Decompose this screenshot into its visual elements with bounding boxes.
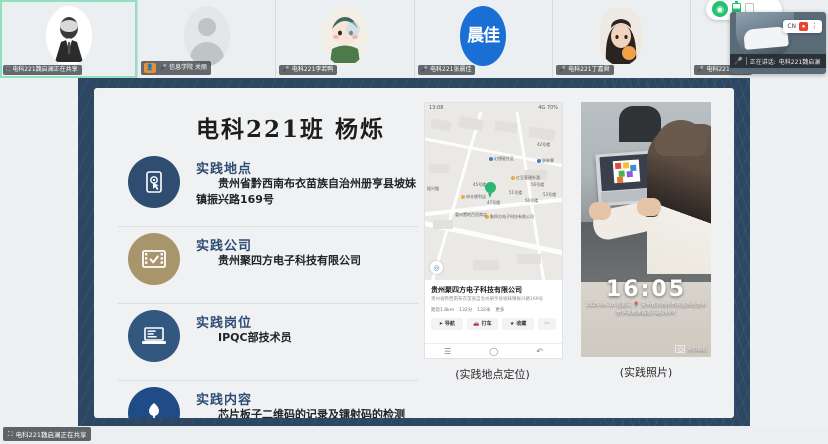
info-row-value: IPQC部技术员 — [196, 330, 421, 346]
poi-label: 申丰便利店 — [466, 194, 486, 200]
info-row-location: 实践地点 贵州省黔西南布衣苗族自治州册亨县坡妹镇振兴路169号 — [118, 150, 418, 227]
poi-label: 50号楼 — [525, 198, 538, 204]
home-circle-icon[interactable]: ◯ — [489, 347, 498, 356]
phone-status-bar: 13:08 4G 70% — [425, 103, 562, 112]
participant-tile-2[interactable]: 🎤 电科221李若鸭 — [275, 0, 413, 78]
map-action-bar: ➤导航 🚗打车 ★收藏 ··· — [425, 313, 562, 334]
map-pin-icon — [485, 182, 496, 196]
poi-label: 47号楼 — [487, 200, 500, 206]
avatar — [322, 6, 368, 66]
avatar — [184, 6, 230, 66]
participant-name-badge: ⛶ 电科221魏启澜正在共享 — [3, 65, 82, 75]
participant-name-badge: 🎤 电科221张晨佳 — [418, 65, 476, 75]
car-icon: 🚗 — [473, 321, 479, 327]
watermark-brand: 水印相机 — [675, 345, 707, 353]
poi-meta-item: 更多 — [495, 307, 504, 313]
more-vertical-icon[interactable]: ⋮ — [811, 23, 818, 30]
info-row-company: 实践公司 贵州聚四方电子科技有限公司 — [118, 227, 418, 304]
poi-address: 贵州省黔西南布衣苗族自治州册亨县坡妹镇振兴路169号 — [431, 297, 556, 304]
info-row-label: 实践岗位 — [196, 312, 252, 331]
map-building — [473, 260, 499, 270]
navigate-label: 导航 — [445, 320, 455, 327]
map-building — [494, 121, 517, 134]
map-caption: (实践地点定位) — [424, 366, 561, 382]
mic-muted-icon: 🎤 — [697, 67, 704, 73]
poi-label: 51号楼 — [509, 190, 522, 196]
participant-name: 电科221张晨佳 — [430, 67, 471, 73]
participant-name: 电科221魏启澜正在共享 — [12, 67, 77, 73]
poi-dot — [537, 159, 541, 163]
map-building — [430, 118, 451, 131]
taxi-button[interactable]: 🚗打车 — [467, 318, 499, 330]
avatar-initials: 晨佳 — [467, 28, 499, 45]
pip-speaking-name: 电科221魏启澜 — [779, 57, 820, 66]
map-poi-card: 贵州聚四方电子科技有限公司 贵州省黔西南布衣苗族自治州册亨县坡妹镇振兴路169号… — [425, 280, 562, 313]
android-nav-bar: ☰ ◯ ↶ — [425, 343, 562, 358]
locate-icon[interactable]: ◎ — [430, 261, 443, 274]
more-horizontal-icon: ··· — [544, 321, 550, 327]
navigate-icon: ➤ — [439, 321, 443, 327]
info-row-label: 实践内容 — [196, 389, 252, 408]
watermark-date: 2025-06-18 星期三 — [586, 302, 632, 308]
location-pin-icon: 📍 — [633, 302, 639, 308]
poi-label: 53号楼 — [543, 192, 556, 198]
sharing-status-label: 电科221魏启澜正在共享 — [16, 429, 87, 439]
screen-share-icon: ⛶ — [6, 67, 10, 73]
info-row-value: 贵州聚四方电子科技有限公司 — [196, 253, 421, 269]
mic-muted-icon: 🎤 — [160, 65, 167, 71]
mic-muted-icon: 🎤 — [421, 67, 428, 73]
status-indicators: 4G 70% — [538, 105, 558, 111]
participant-tile-4[interactable]: 🎤 电科221丁嘉舜 — [552, 0, 690, 78]
screen-share-meeting-view: ⛶ 电科221魏启澜正在共享 👤 🎤 信息学院 关丽 — [0, 0, 828, 444]
pip-highlight — [743, 26, 789, 50]
watermark-time: 16:05 — [581, 277, 711, 302]
touch-phone-icon — [128, 156, 180, 208]
poi-meta-item: 132分 — [459, 307, 472, 313]
taxi-label: 打车 — [482, 320, 492, 327]
screen-share-icon: ⛶ — [8, 430, 13, 439]
status-time: 13:08 — [429, 105, 443, 111]
participant-tile-1[interactable]: 👤 🎤 信息学院 关丽 — [137, 0, 275, 78]
participant-filmstrip: ⛶ 电科221魏启澜正在共享 👤 🎤 信息学院 关丽 — [0, 0, 828, 78]
poi-label: 册林景 — [542, 158, 554, 164]
info-row-position: 实践岗位 IPQC部技术员 — [118, 304, 418, 381]
presentation-slide: 电科221班 杨烁 实践地点 贵州省黔西南布衣苗族自治州册亨县坡妹镇振兴路169… — [94, 88, 734, 418]
watermark-brand-label: 水印相机 — [687, 346, 707, 353]
laptop-icon — [128, 310, 180, 362]
participant-name-badge: 👤 🎤 信息学院 关丽 — [141, 61, 211, 75]
wifi-icon: ◉ — [712, 1, 728, 17]
divider — [746, 57, 747, 65]
info-row-content: 实践内容 芯片板子二维码的记录及镭射码的检测 — [118, 381, 418, 418]
navigate-button[interactable]: ➤导航 — [431, 318, 463, 330]
participant-name: 电科221丁嘉舜 — [568, 67, 609, 73]
default-silhouette-icon — [184, 6, 230, 66]
poi-dot — [511, 176, 515, 180]
menu-icon[interactable]: ☰ — [444, 347, 451, 356]
map-building — [433, 220, 453, 229]
practice-photo: 16:05 2025-06-18 星期三 📍 贵州省黔西南布衣苗族自治州册亨县坡… — [581, 102, 711, 357]
poi-label: 红豆家建外酒 — [516, 175, 540, 181]
speaker-icon: 🎤 — [734, 57, 743, 65]
poi-meta-item: 距您1.8km — [431, 307, 454, 313]
sharing-status-badge: ⛶ 电科221魏启澜正在共享 — [3, 427, 91, 441]
person-photo-icon — [49, 10, 89, 62]
pip-controls[interactable]: CN ● ⋮ — [783, 20, 822, 33]
participant-name-badge: 🎤 电科221丁嘉舜 — [556, 65, 614, 75]
page-title: 电科221班 杨烁 — [196, 110, 385, 144]
self-view-pip[interactable]: CN ● ⋮ 🎤 正在讲话: 电科221魏启澜 — [730, 12, 826, 74]
avatar: 晨佳 — [460, 6, 506, 66]
participant-name: 信息学院 关丽 — [169, 65, 207, 71]
participant-tile-0[interactable]: ⛶ 电科221魏启澜正在共享 — [0, 0, 137, 78]
poi-label: 幻想星社区 — [494, 156, 514, 162]
pip-speaking-bar: 🎤 正在讲话: 电科221魏启澜 — [730, 54, 826, 68]
participant-name-badge: 🎤 电科221李若鸭 — [279, 65, 337, 75]
pip-mode-label: CN — [787, 23, 796, 30]
poi-label: 振兴路 — [427, 186, 439, 192]
avatar — [46, 6, 92, 66]
poi-label: 42号楼 — [537, 142, 550, 148]
bottom-bar: ⛶ 电科221魏启澜正在共享 — [0, 426, 828, 444]
mic-muted-icon: 🎤 — [282, 67, 289, 73]
person-photo-icon — [600, 8, 642, 64]
poi-dot — [489, 157, 493, 161]
person-hand-left — [589, 202, 611, 220]
avatar — [598, 6, 644, 66]
lamp-icon — [128, 387, 180, 418]
photo-caption: (实践照片) — [581, 364, 711, 380]
info-row-label: 实践公司 — [196, 235, 252, 254]
poi-label: 56号楼 — [531, 182, 544, 188]
map-building — [528, 126, 555, 141]
info-row-list: 实践地点 贵州省黔西南布衣苗族自治州册亨县坡妹镇振兴路169号 — [118, 150, 418, 418]
map-screenshot: 13:08 4G 70% — [424, 102, 563, 359]
film-check-icon — [128, 233, 180, 285]
map-building — [429, 164, 449, 173]
star-icon: ★ — [510, 321, 514, 327]
poi-dot — [461, 195, 465, 199]
poi-meta-item: 132米 — [477, 307, 490, 313]
cartoon-avatar-icon — [324, 9, 366, 63]
info-row-value: 芯片板子二维码的记录及镭射码的检测 — [196, 407, 421, 418]
favorite-label: 收藏 — [516, 320, 526, 327]
shared-screen-stage: 电科221班 杨烁 实践地点 贵州省黔西南布衣苗族自治州册亨县坡妹镇振兴路169… — [78, 78, 750, 428]
poi-label: 富州置地百货商店 — [455, 212, 487, 218]
screen-content — [613, 159, 640, 183]
info-row-label: 实践地点 — [196, 158, 252, 177]
watermark-info: 2025-06-18 星期三 📍 贵州省黔西南布衣苗族自治州册亨县坡妹镇振兴路1… — [584, 302, 708, 317]
more-button[interactable]: ··· — [538, 318, 556, 330]
map-building — [517, 254, 541, 264]
poi-label: 聚四方电子科技有限公司 — [490, 214, 534, 220]
info-row-value: 贵州省黔西南布衣苗族自治州册亨县坡妹镇振兴路169号 — [196, 176, 421, 208]
participant-name: 电科221李若鸭 — [292, 67, 333, 73]
back-icon[interactable]: ↶ — [536, 347, 543, 356]
pip-speaking-prefix: 正在讲话: — [750, 57, 776, 66]
host-chip: 👤 — [144, 63, 155, 73]
participant-tile-3[interactable]: 晨佳 🎤 电科221张晨佳 — [414, 0, 552, 78]
camera-icon — [675, 345, 685, 353]
poi-name: 贵州聚四方电子科技有限公司 — [431, 285, 556, 295]
map-canvas: 幻想星社区 册林景 红豆家建外酒 申丰便利店 聚四方电子科技有限公司 富州置地百… — [425, 112, 562, 280]
record-icon[interactable]: ● — [799, 22, 808, 31]
mic-muted-icon: 🎤 — [559, 67, 566, 73]
favorite-button[interactable]: ★收藏 — [502, 318, 534, 330]
person-hand-right — [637, 198, 661, 216]
